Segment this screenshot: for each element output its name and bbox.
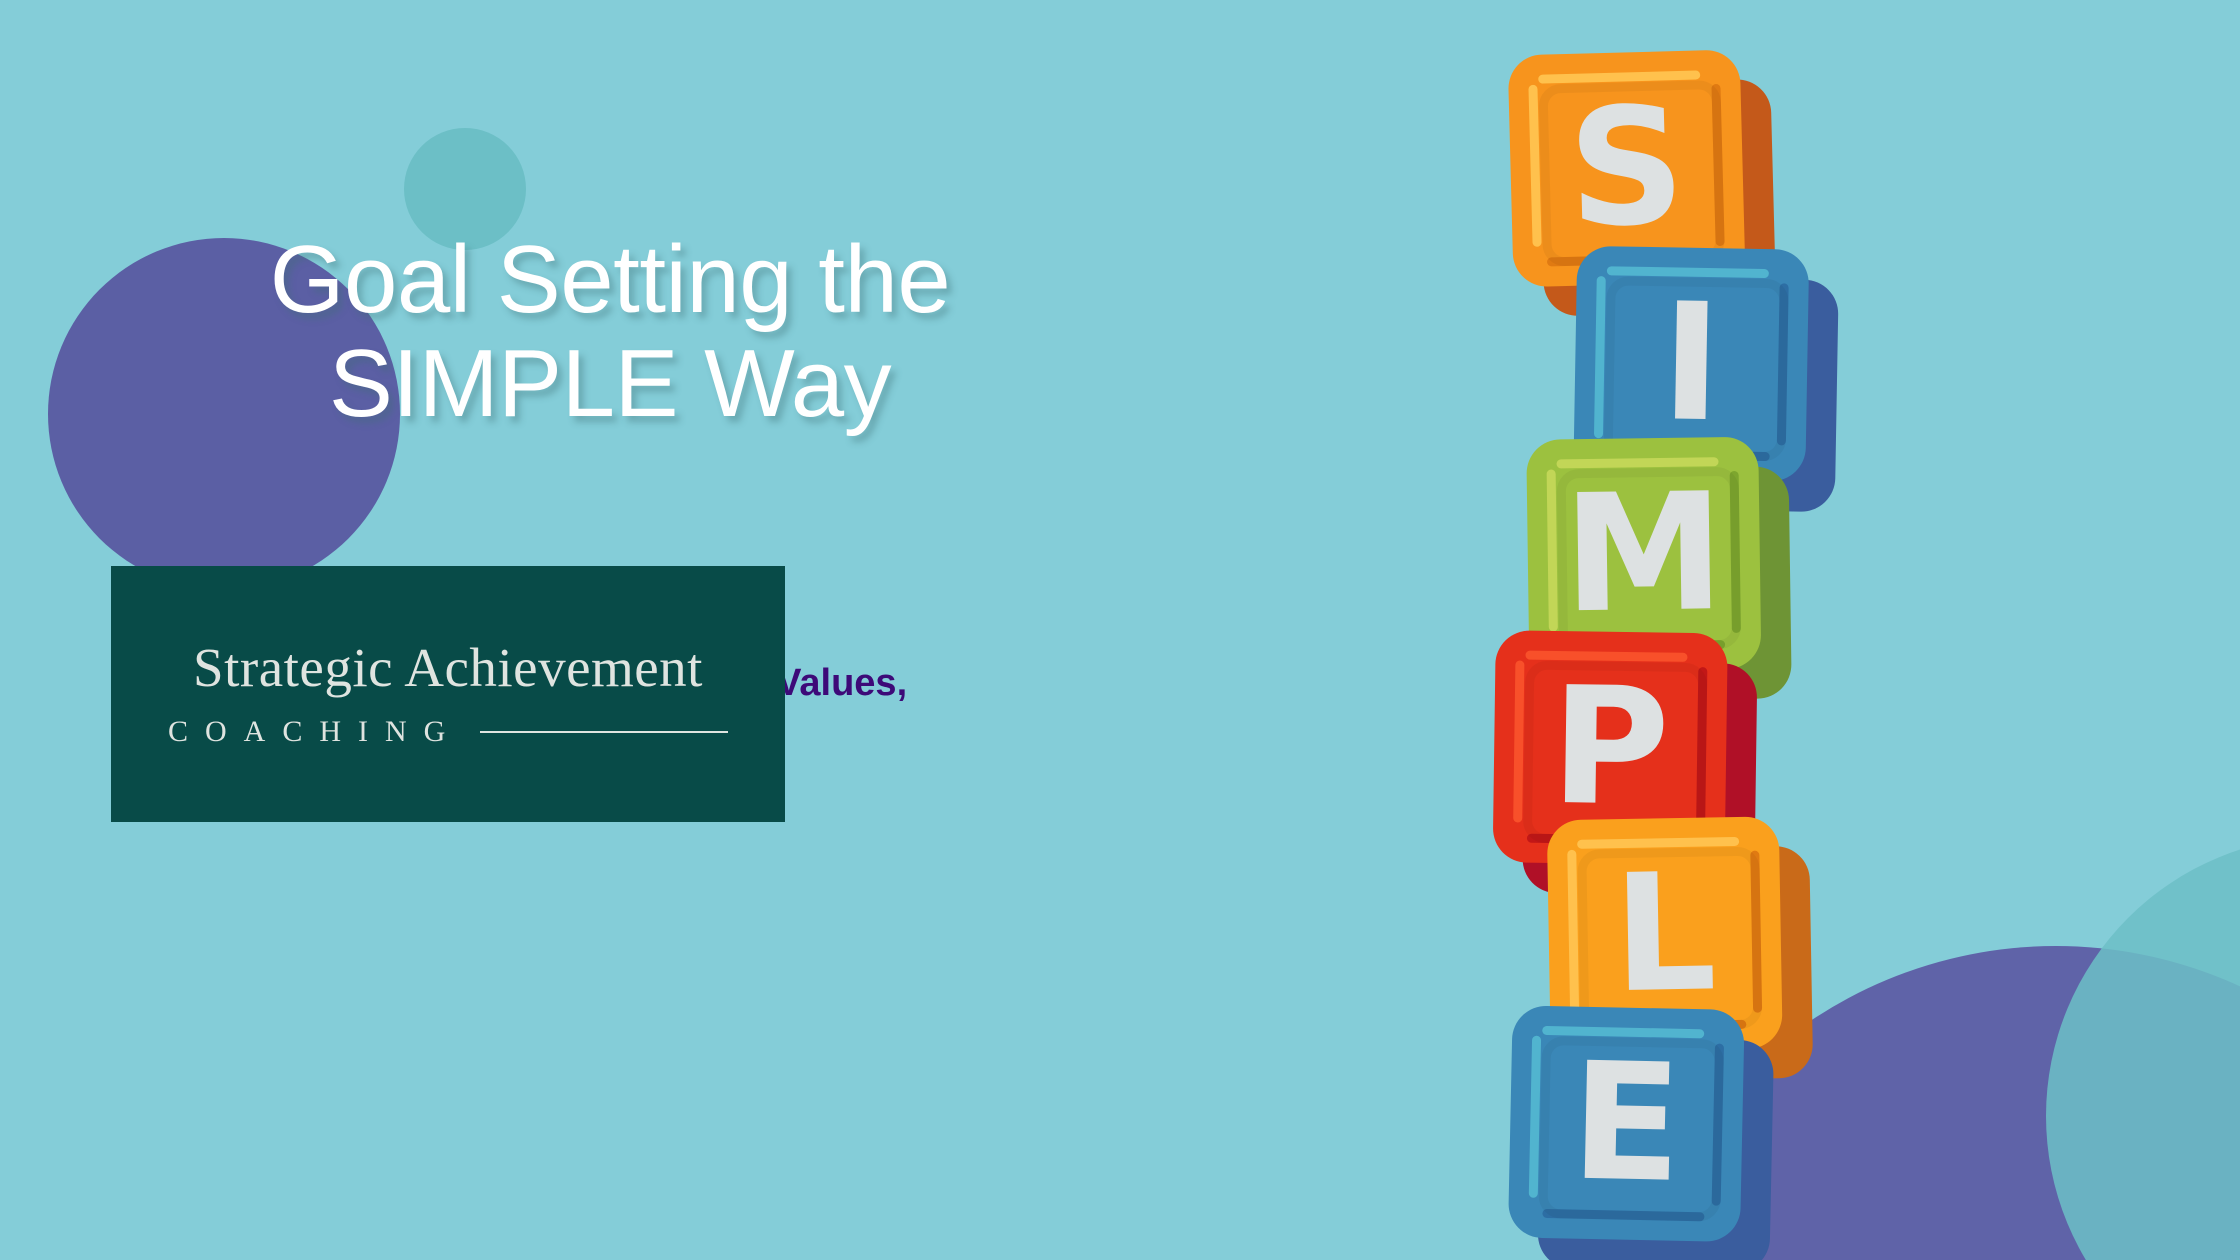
decor-circle-teal-bottom xyxy=(2046,836,2240,1260)
brand-rule xyxy=(480,731,728,733)
brand-wordmark: Strategic Achievement xyxy=(193,640,703,695)
brand-subline: COACHING xyxy=(168,715,728,749)
letter-block-e: E xyxy=(1507,1005,1774,1260)
page-title: Goal Setting the SIMPLE Way xyxy=(110,228,1110,435)
block-letter-e: E xyxy=(1508,1005,1745,1242)
brand-subword: COACHING xyxy=(168,715,462,749)
brand-logo-card: Strategic Achievement COACHING xyxy=(111,566,785,822)
slide-canvas: Goal Setting the SIMPLE Way Aligning You… xyxy=(0,0,2240,1260)
